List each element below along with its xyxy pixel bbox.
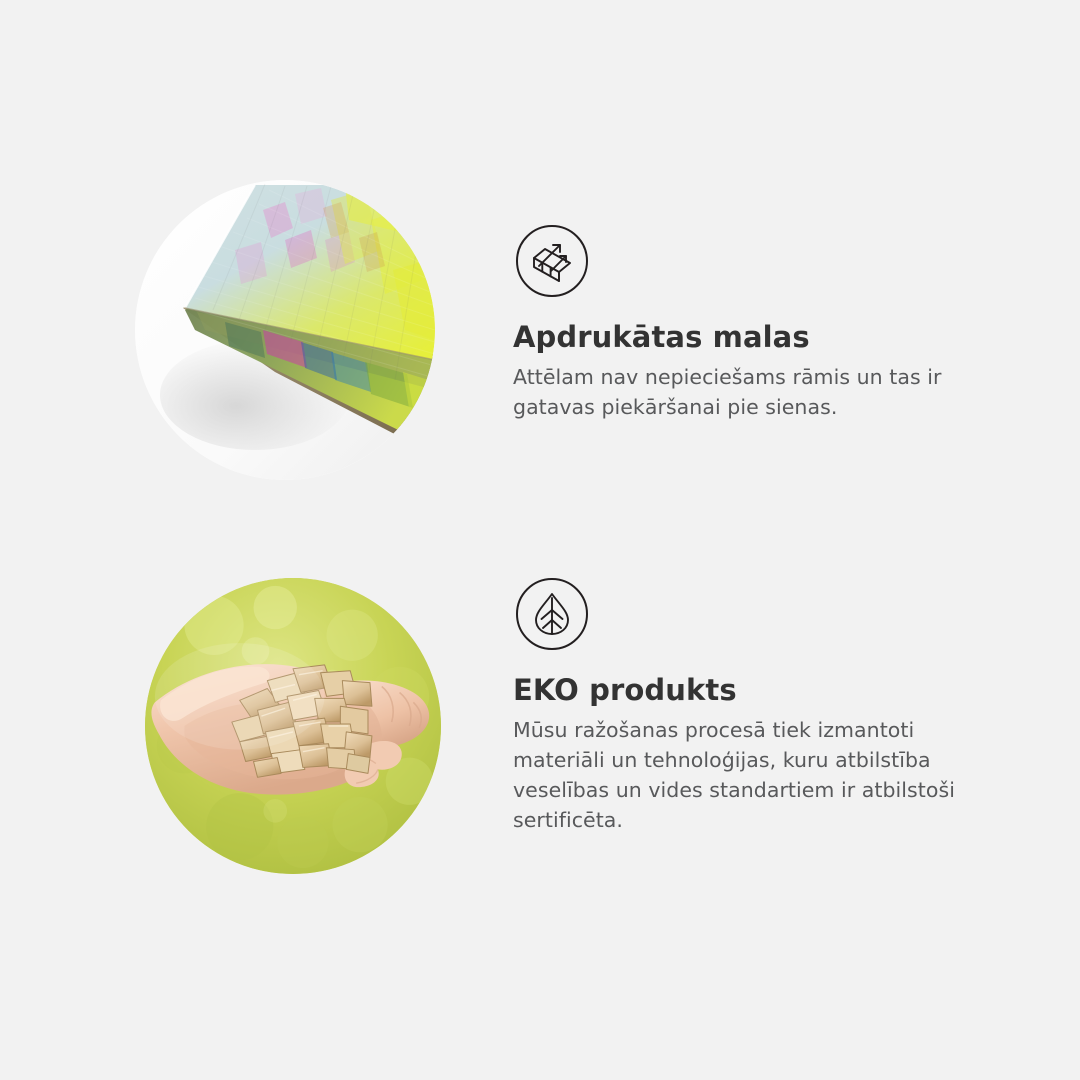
canvas-print-corner-photo: [135, 180, 435, 480]
canvas-print-corner-illustration: [135, 180, 435, 480]
feature-text-eko-product: EKO produkts Mūsu ražošanas procesā tiek…: [513, 578, 1013, 835]
leaf-glyph: [530, 591, 574, 637]
hands-wood-chips-illustration: [145, 578, 441, 874]
canvas-wrapped-edge-glyph: [529, 238, 575, 284]
leaf-icon: [516, 578, 588, 650]
feature-page: Apdrukātas malas Attēlam nav nepieciešam…: [0, 0, 1080, 1080]
feature-text-printed-edges: Apdrukātas malas Attēlam nav nepieciešam…: [513, 225, 1013, 422]
feature-title: EKO produkts: [513, 674, 1013, 707]
feature-title: Apdrukātas malas: [513, 321, 1013, 354]
feature-description: Mūsu ražošanas procesā tiek izmantoti ma…: [513, 715, 993, 835]
hands-holding-wood-chips-photo: [145, 578, 441, 874]
feature-description: Attēlam nav nepieciešams rāmis un tas ir…: [513, 362, 993, 422]
canvas-wrapped-edge-icon: [516, 225, 588, 297]
